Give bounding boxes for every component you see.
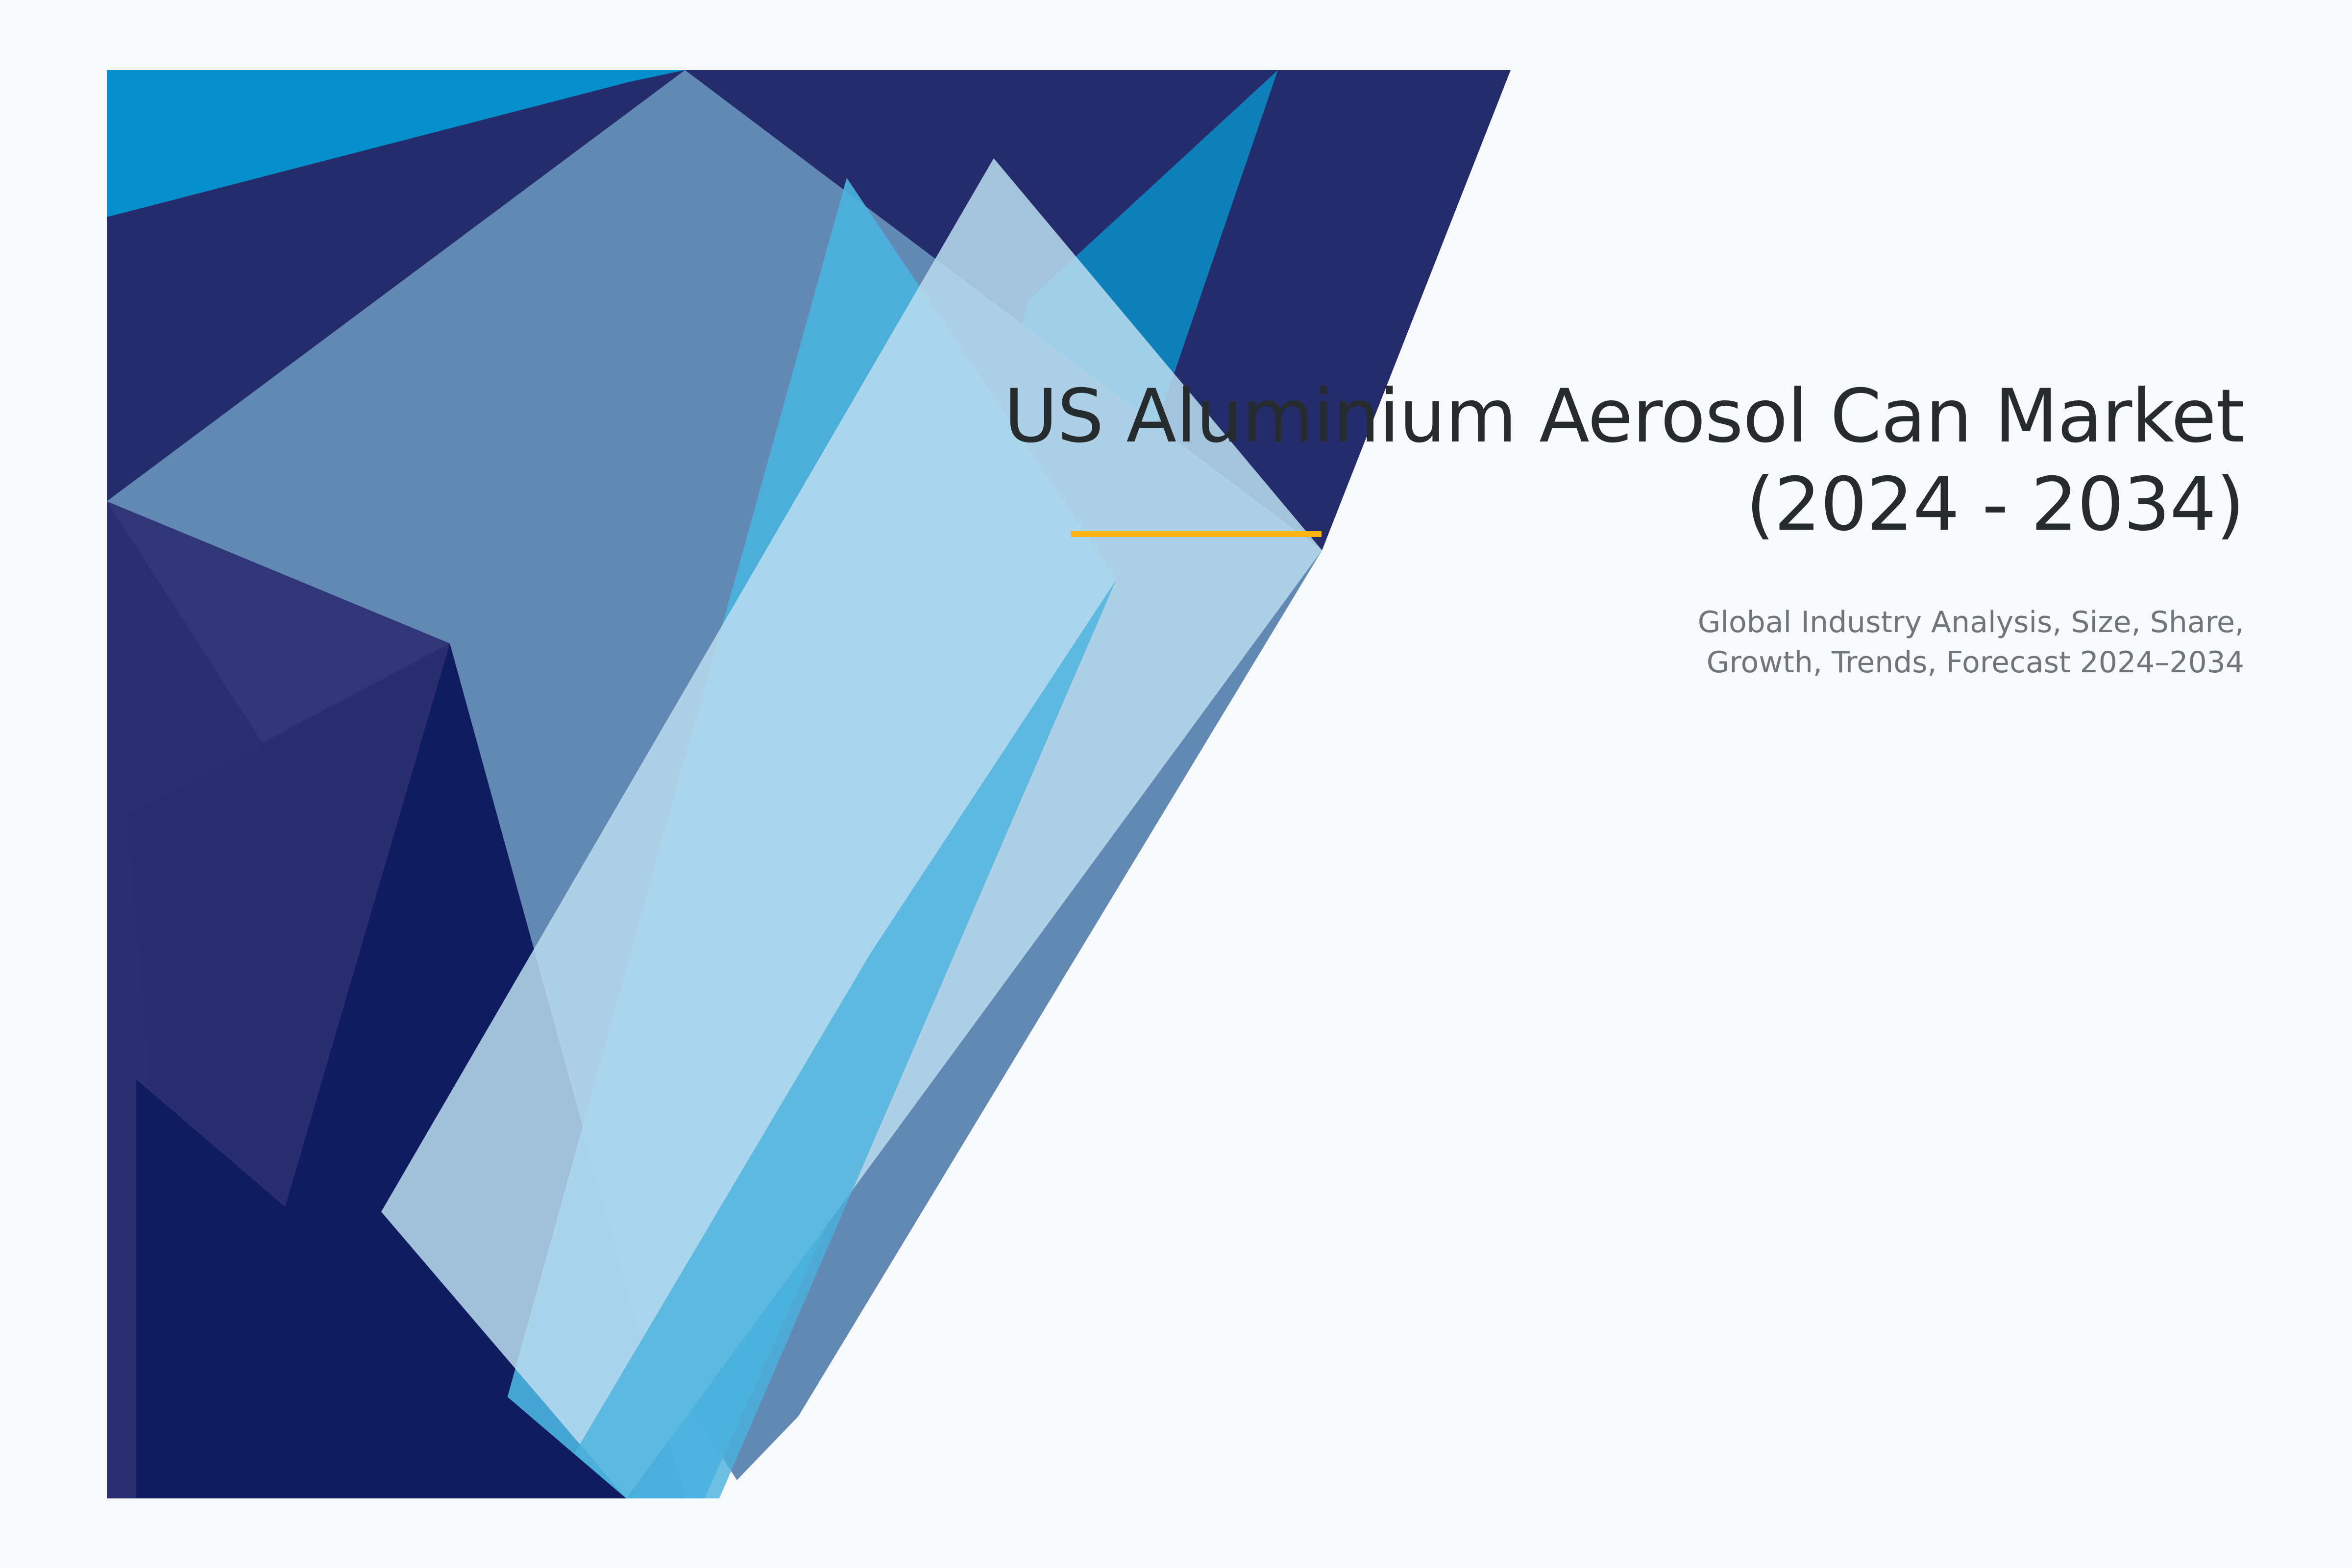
page-title: US Aluminium Aerosol Can Market(2024 - 2… <box>931 372 2244 549</box>
page-title-line-2: (2024 - 2034) <box>931 461 2244 549</box>
page-subtitle: Global Industry Analysis, Size, Share, G… <box>931 549 2244 683</box>
abstract-polygon-cover-graphic <box>107 70 1528 1498</box>
cover-text-block: US Aluminium Aerosol Can Market(2024 - 2… <box>931 372 2244 683</box>
page-title-line-1: US Aluminium Aerosol Can Market <box>1004 374 2244 459</box>
cover-page: US Aluminium Aerosol Can Market(2024 - 2… <box>0 0 2352 1568</box>
